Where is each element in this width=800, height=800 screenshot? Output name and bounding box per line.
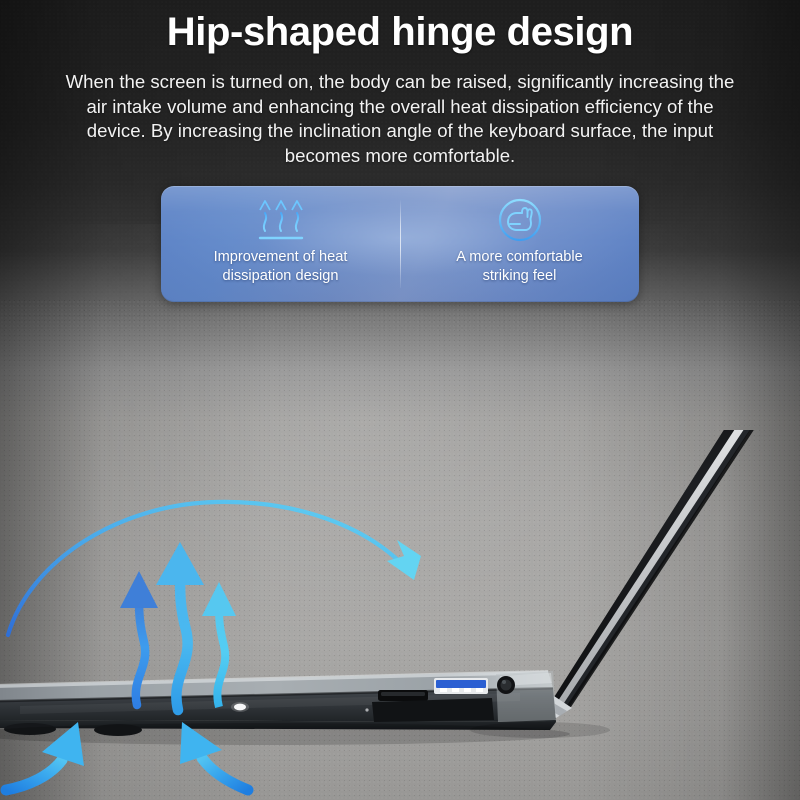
feature-item-heat-dissipation[interactable]: Improvement of heat dissipation design <box>161 186 400 302</box>
page-description: When the screen is turned on, the body c… <box>56 70 744 168</box>
airflow-annotations <box>0 430 800 800</box>
feature-item-label: Improvement of heat dissipation design <box>214 248 348 286</box>
heat-exhaust-arrow-right <box>202 582 236 707</box>
heat-exhaust-arrow-left <box>120 571 158 705</box>
air-intake-arrow-left <box>6 722 84 790</box>
heat-exhaust-arrow-center <box>156 542 204 710</box>
heat-waves-icon <box>252 196 310 244</box>
feature-card: Improvement of heat dissipation design <box>161 186 639 302</box>
feature-item-striking-feel[interactable]: A more comfortable striking feel <box>400 186 639 302</box>
hand-typing-icon <box>496 196 544 244</box>
feature-item-label: A more comfortable striking feel <box>456 248 583 286</box>
product-marketing-slide: Hip-shaped hinge design When the screen … <box>0 0 800 800</box>
page-title: Hip-shaped hinge design <box>0 11 800 53</box>
air-intake-arrow-right <box>180 722 248 790</box>
